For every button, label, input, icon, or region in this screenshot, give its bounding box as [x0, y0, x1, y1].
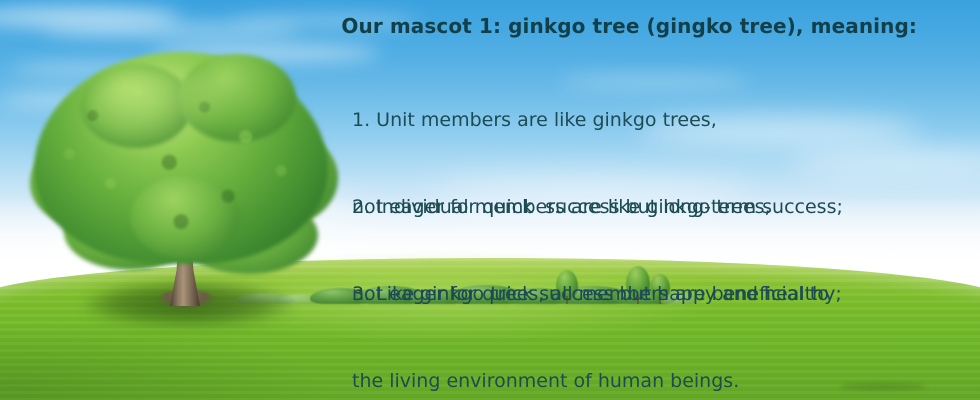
meaning-item-3-line-1: 3. Like ginkgo trees, all members are be… — [352, 280, 829, 309]
banner-headline: Our mascot 1: ginkgo tree (gingko tree),… — [0, 14, 917, 38]
banner-text-block: Our mascot 1: ginkgo tree (gingko tree),… — [0, 0, 980, 400]
mascot-banner: Our mascot 1: ginkgo tree (gingko tree),… — [0, 0, 980, 400]
meaning-item-3-line-2: the living environment of human beings. — [352, 367, 829, 396]
meaning-item-2-line-1: 2. Individual members are like ginkgo tr… — [352, 193, 842, 222]
meaning-item-3: 3. Like ginkgo trees, all members are be… — [352, 222, 829, 400]
meaning-item-1-line-1: 1. Unit members are like ginkgo trees, — [352, 106, 843, 135]
